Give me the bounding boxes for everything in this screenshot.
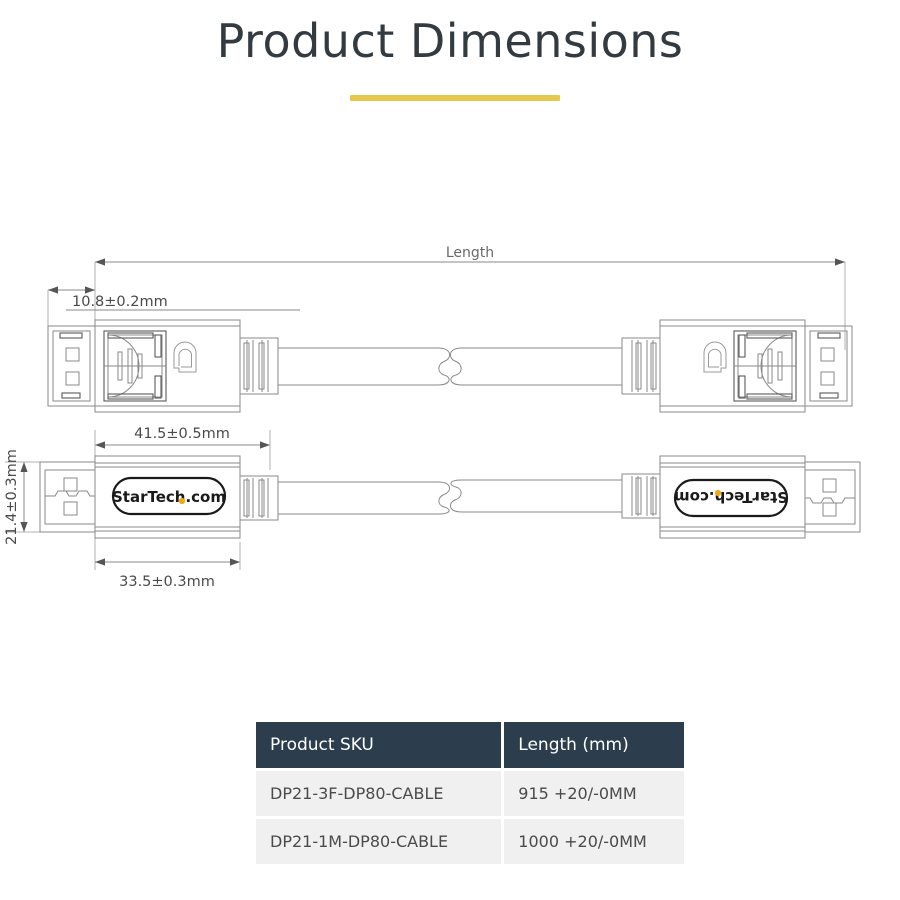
cell-sku: DP21-3F-DP80-CABLE bbox=[256, 768, 504, 816]
dimension-housing-length-bottom-label: 33.5±0.3mm bbox=[119, 574, 215, 590]
brand-dot bbox=[715, 490, 721, 496]
brand-logo: StarTech.com bbox=[112, 478, 226, 514]
dimension-housing-height: 21.4±0.3mm bbox=[4, 449, 40, 545]
technical-drawing: Length 10.8±0.2mm bbox=[0, 230, 900, 620]
title-accent-rule bbox=[350, 95, 560, 101]
page-title: Product Dimensions bbox=[0, 14, 900, 68]
cell-sku: DP21-1M-DP80-CABLE bbox=[256, 816, 504, 864]
brand-dot bbox=[179, 498, 185, 504]
brand-logo: StarTech.com bbox=[674, 480, 788, 516]
brand-logo-text: StarTech.com bbox=[674, 488, 788, 506]
table-row: DP21-3F-DP80-CABLE 915 +20/-0MM bbox=[256, 768, 684, 816]
displayport-logo bbox=[704, 342, 726, 372]
brand-logo-text: StarTech.com bbox=[112, 488, 226, 506]
cell-length: 915 +20/-0MM bbox=[504, 768, 684, 816]
dimension-tip-width-label: 10.8±0.2mm bbox=[72, 294, 168, 310]
connector-left-side-view: StarTech.com bbox=[40, 456, 450, 538]
column-header-length: Length (mm) bbox=[504, 722, 684, 768]
dimension-housing-length-bottom: 33.5±0.3mm bbox=[95, 542, 240, 590]
cell-length: 1000 +20/-0MM bbox=[504, 816, 684, 864]
specifications-table: Product SKU Length (mm) DP21-3F-DP80-CAB… bbox=[256, 722, 684, 864]
connector-left-top-view bbox=[48, 320, 450, 412]
dimension-length-label: Length bbox=[446, 245, 494, 261]
connector-right-top-view bbox=[450, 320, 852, 412]
product-dimensions-page: Product Dimensions Length 10.8±0.2mm bbox=[0, 0, 900, 900]
column-header-sku: Product SKU bbox=[256, 722, 504, 768]
dimension-housing-length-top-label: 41.5±0.5mm bbox=[134, 426, 230, 442]
dimension-housing-height-label: 21.4±0.3mm bbox=[4, 449, 20, 545]
table-header-row: Product SKU Length (mm) bbox=[256, 722, 684, 768]
displayport-logo bbox=[174, 342, 196, 372]
table-row: DP21-1M-DP80-CABLE 1000 +20/-0MM bbox=[256, 816, 684, 864]
dimension-length: Length bbox=[95, 245, 845, 350]
connector-right-side-view: StarTech.com bbox=[450, 456, 860, 538]
